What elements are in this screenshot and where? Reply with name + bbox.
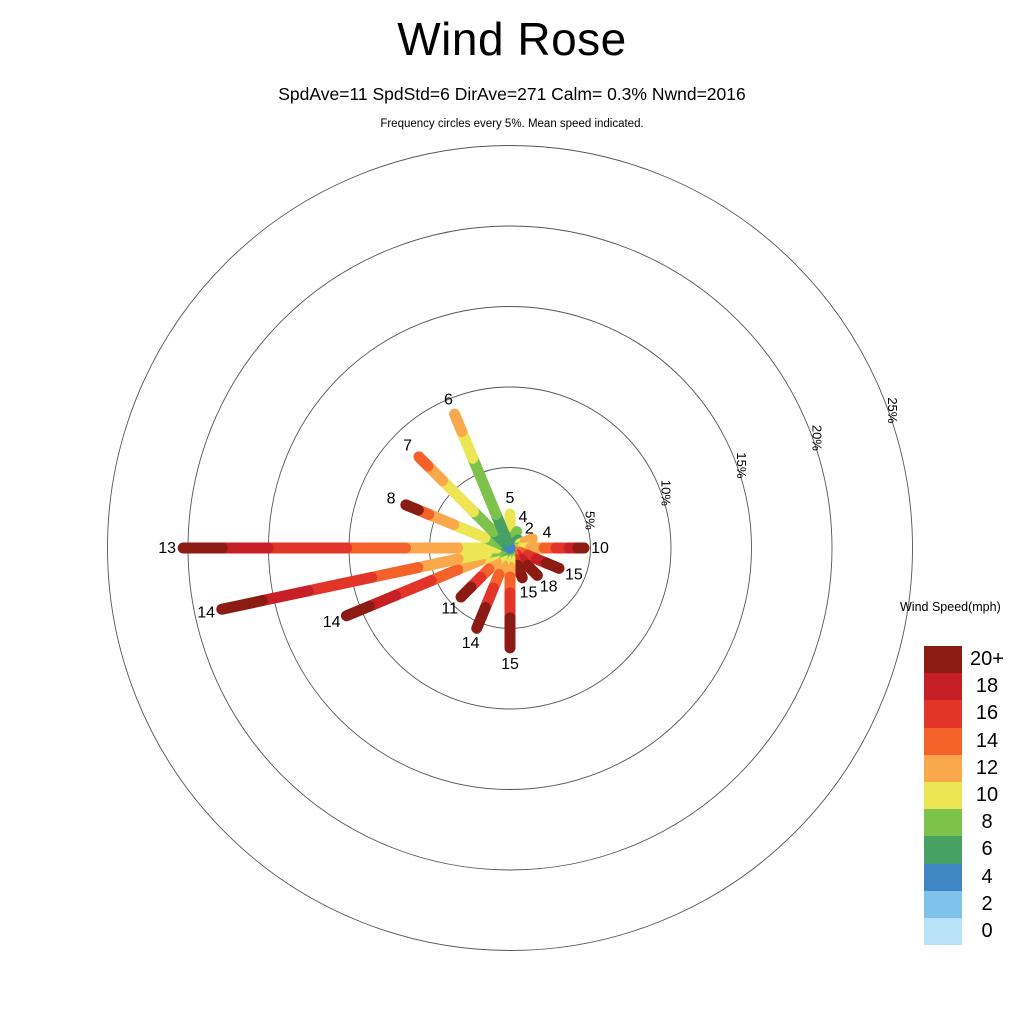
petal-segment (443, 481, 474, 512)
ring-label: 20% (810, 425, 825, 451)
petal-speed-label: 14 (197, 605, 215, 622)
petal-segment (461, 587, 471, 597)
legend-color-swatch (924, 646, 962, 673)
legend-color-swatch (924, 836, 962, 863)
wind-rose-plot: 5%10%15%20%25% 5424101518151514111414138… (0, 0, 1024, 1024)
legend-label: 18 (965, 673, 1009, 700)
legend-item[interactable]: 0 (924, 918, 1009, 945)
legend-color-swatch (924, 728, 962, 755)
petal-segment (346, 606, 369, 615)
legend-label: 4 (965, 864, 1009, 891)
legend: Wind Speed(mph) 20+181614121086420 (898, 600, 1024, 614)
legend-label: 6 (965, 836, 1009, 863)
legend-entries: 20+181614121086420 (924, 646, 1009, 945)
legend-color-swatch (924, 755, 962, 782)
petal-segment (455, 414, 462, 431)
petal-speed-label: 15 (520, 585, 538, 602)
wind-rose-page: Wind Rose SpdAve=11 SpdStd=6 DirAve=271 … (0, 0, 1024, 1024)
legend-label: 10 (965, 782, 1009, 809)
petal-speed-label: 10 (591, 540, 609, 557)
petal-segment (406, 505, 418, 510)
legend-item[interactable]: 8 (924, 809, 1009, 836)
legend-item[interactable]: 20+ (924, 646, 1009, 673)
legend-label: 8 (965, 809, 1009, 836)
petal-speed-label: 14 (323, 614, 341, 631)
ring-labels: 5%10%15%20%25% (583, 397, 901, 530)
petal-segment (473, 458, 496, 514)
ring-label: 5% (583, 511, 598, 530)
petal-segment (477, 607, 486, 628)
legend-item[interactable]: 6 (924, 836, 1009, 863)
legend-item[interactable]: 10 (924, 782, 1009, 809)
petal-segment (517, 565, 522, 577)
ring-label: 15% (734, 452, 749, 478)
petal-speed-label: 6 (444, 391, 453, 408)
petal-segment (222, 601, 262, 610)
petal-segment (262, 591, 308, 601)
petal-speed-label: 7 (403, 438, 412, 455)
legend-color-swatch (924, 700, 962, 727)
petal-speed-label: 15 (501, 656, 519, 673)
legend-item[interactable]: 4 (924, 864, 1009, 891)
legend-item[interactable]: 16 (924, 700, 1009, 727)
ring-label: 10% (658, 480, 673, 506)
legend-color-swatch (924, 918, 962, 945)
petal-speed-label: 14 (462, 635, 480, 652)
legend-color-swatch (924, 782, 962, 809)
petal-segment (527, 565, 537, 575)
legend-title: Wind Speed(mph) (900, 600, 1024, 614)
petal-speed-label: 2 (525, 521, 534, 538)
legend-item[interactable]: 14 (924, 728, 1009, 755)
legend-item[interactable]: 18 (924, 673, 1009, 700)
petal-segment (395, 581, 431, 596)
legend-label: 0 (965, 918, 1009, 945)
petal-speed-labels: 542410151815151411141413876 (158, 391, 609, 672)
petal-speed-label: 11 (441, 600, 458, 617)
petal-speed-label: 15 (565, 566, 583, 583)
legend-label: 14 (965, 728, 1009, 755)
legend-color-swatch (924, 891, 962, 918)
petal-speed-label: 5 (506, 490, 515, 507)
petal-speed-label: 18 (540, 579, 558, 596)
petal-segment (525, 539, 532, 542)
petal-segment (419, 457, 428, 466)
legend-label: 16 (965, 700, 1009, 727)
legend-item[interactable]: 2 (924, 891, 1009, 918)
petal-speed-label: 13 (158, 540, 176, 557)
petal-speed-label: 8 (387, 491, 396, 508)
petal-segment (308, 577, 371, 590)
legend-item[interactable]: 12 (924, 755, 1009, 782)
legend-color-swatch (924, 864, 962, 891)
petal-speed-label: 4 (543, 525, 552, 542)
legend-label: 20+ (965, 646, 1009, 673)
ring-label: 25% (885, 397, 900, 423)
legend-color-swatch (924, 809, 962, 836)
legend-label: 12 (965, 755, 1009, 782)
petal-segment (546, 563, 559, 568)
legend-label: 2 (965, 891, 1009, 918)
legend-color-swatch (924, 673, 962, 700)
petal-segment (372, 568, 418, 578)
